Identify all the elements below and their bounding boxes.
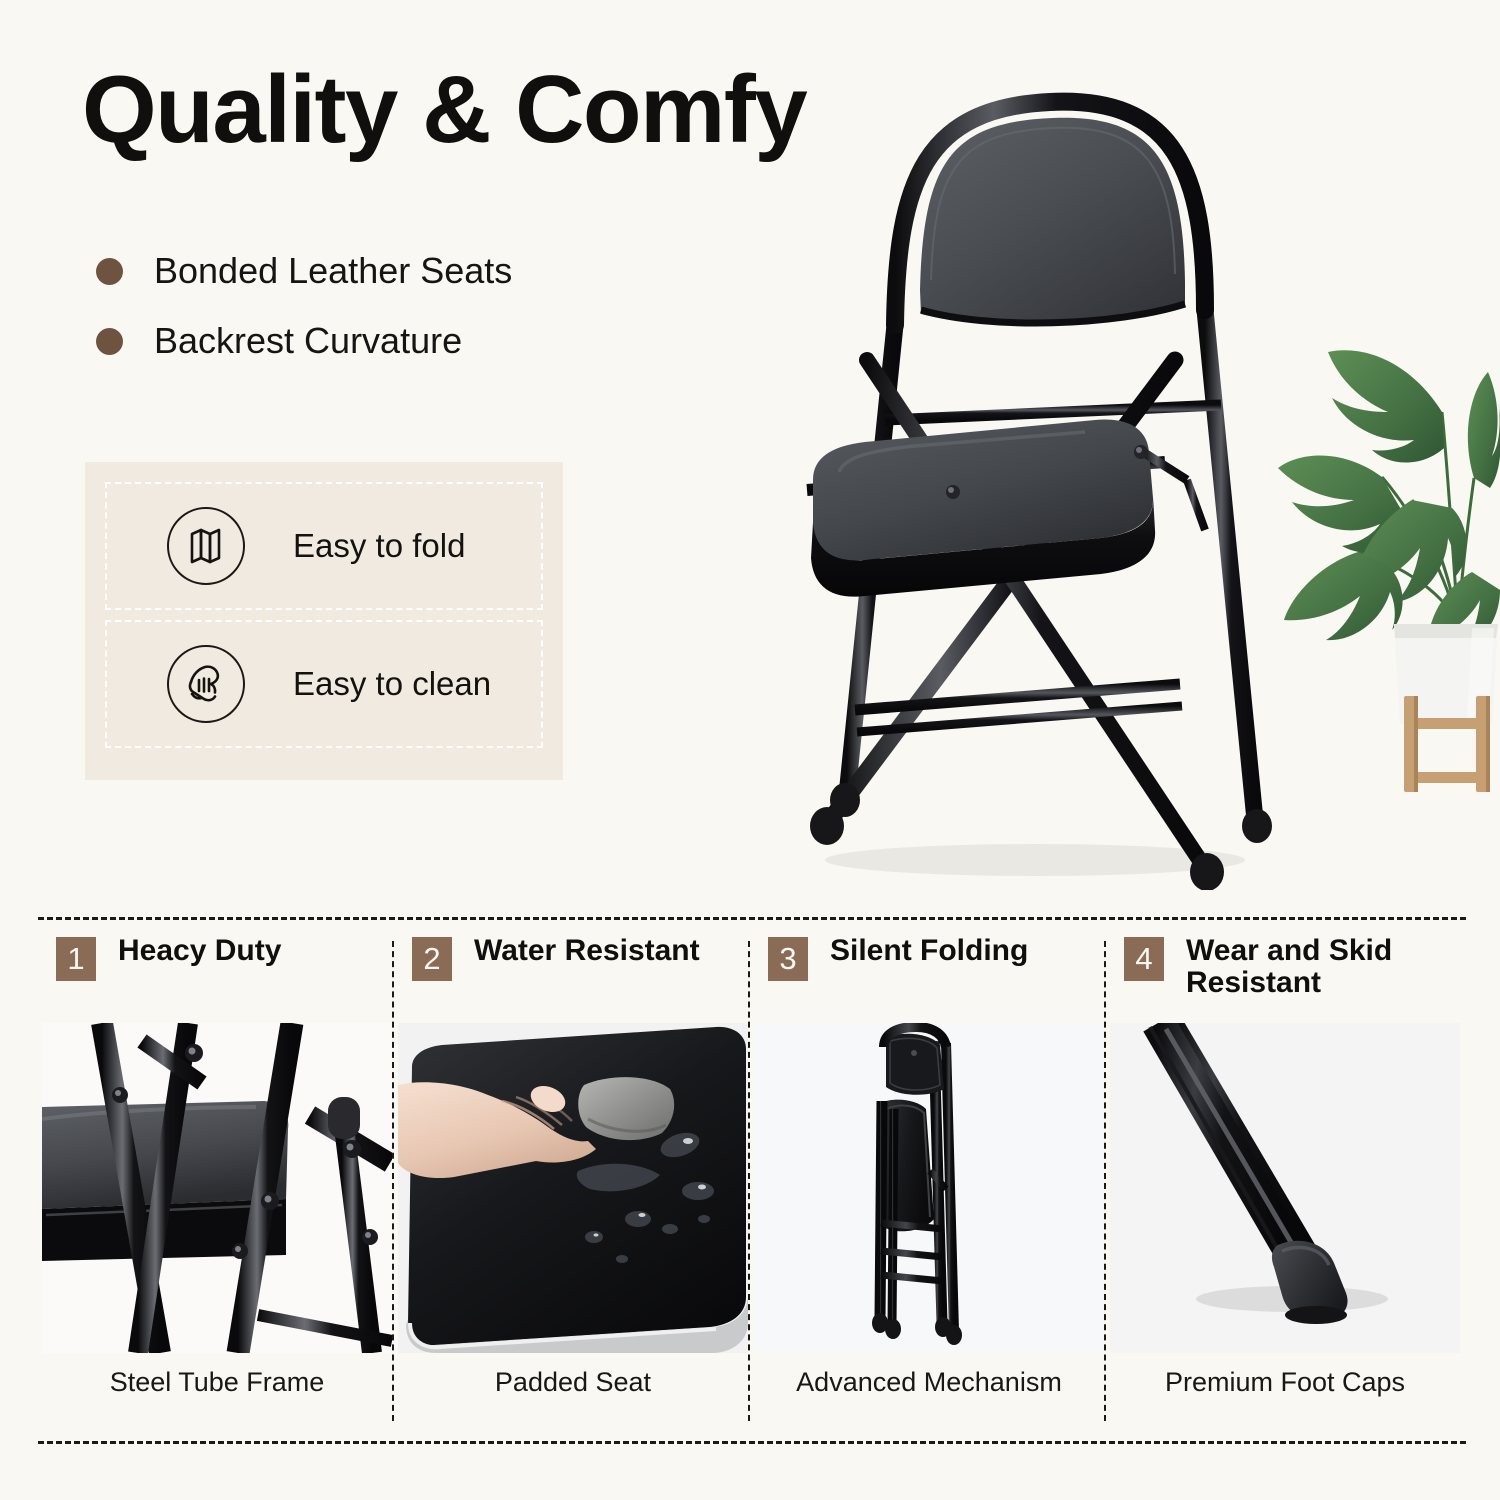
feature-header: 2 Water Resistant — [398, 935, 748, 1015]
divider-vertical — [748, 941, 750, 1421]
feature-strip: 1 Heacy Duty — [0, 905, 1500, 1500]
feature-title: Silent Folding — [830, 935, 1028, 967]
benefit-row-easy-to-fold: Easy to fold — [105, 482, 543, 610]
feature-header: 4 Wear and Skid Resistant — [1110, 935, 1460, 1015]
hand-wiping-cloth-icon — [167, 645, 245, 723]
folded-map-icon — [167, 507, 245, 585]
benefit-label: Easy to fold — [293, 527, 465, 565]
feature-card-3: 3 Silent Folding — [754, 935, 1104, 1425]
feature-title: Water Resistant — [474, 935, 700, 967]
feature-header: 1 Heacy Duty — [42, 935, 392, 1015]
feature-photo-water-wipe — [398, 1023, 748, 1353]
feature-title: Heacy Duty — [118, 935, 281, 967]
feature-photo-foot-cap — [1110, 1023, 1460, 1353]
feature-title: Wear and Skid Resistant — [1186, 935, 1446, 1000]
feature-caption: Steel Tube Frame — [42, 1367, 392, 1398]
page-title: Quality & Comfy — [82, 62, 806, 158]
list-item: Backrest Curvature — [96, 306, 512, 376]
feature-caption: Premium Foot Caps — [1110, 1367, 1460, 1398]
bullet-dot-icon — [96, 328, 123, 355]
feature-card-2: 2 Water Resistant — [398, 935, 748, 1425]
divider-bottom — [38, 1441, 1466, 1444]
feature-header: 3 Silent Folding — [754, 935, 1104, 1015]
bullet-label: Bonded Leather Seats — [154, 250, 512, 292]
feature-photo-folded-chair — [754, 1023, 1104, 1353]
bullet-dot-icon — [96, 258, 123, 285]
hero-section: Quality & Comfy Bonded Leather Seats Bac… — [0, 0, 1500, 905]
feature-number-badge: 2 — [412, 937, 452, 981]
benefits-panel: Easy to fold Easy to clean — [85, 462, 563, 780]
bullet-label: Backrest Curvature — [154, 320, 462, 362]
list-item: Bonded Leather Seats — [96, 236, 512, 306]
benefit-row-easy-to-clean: Easy to clean — [105, 620, 543, 748]
feature-caption: Advanced Mechanism — [754, 1367, 1104, 1398]
feature-number-badge: 3 — [768, 937, 808, 981]
feature-card-4: 4 Wear and Skid Resistant — [1110, 935, 1460, 1425]
divider-vertical — [392, 941, 394, 1421]
divider-vertical — [1104, 941, 1106, 1421]
feature-caption: Padded Seat — [398, 1367, 748, 1398]
benefit-label: Easy to clean — [293, 665, 491, 703]
feature-bullet-list: Bonded Leather Seats Backrest Curvature — [96, 236, 512, 376]
product-photo-folding-chair — [735, 60, 1295, 890]
feature-number-badge: 1 — [56, 937, 96, 981]
feature-card-1: 1 Heacy Duty — [42, 935, 392, 1425]
divider-top — [38, 917, 1466, 920]
decor-monstera-plant — [1262, 272, 1500, 817]
feature-photo-steel-frame — [42, 1023, 392, 1353]
feature-number-badge: 4 — [1124, 937, 1164, 981]
